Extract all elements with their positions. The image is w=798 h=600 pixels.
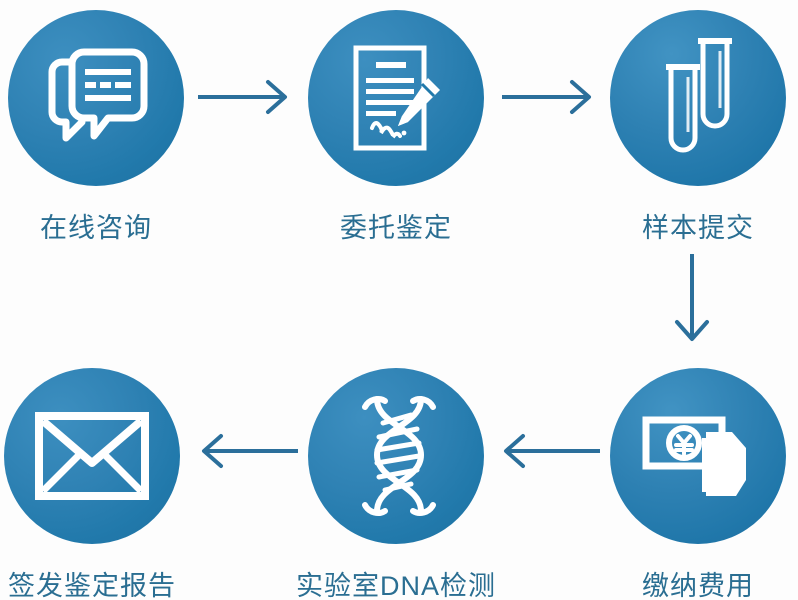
flow-step-online-consultation[interactable]: 在线咨询	[6, 10, 186, 245]
flow-step-sample-submission[interactable]: 样本提交	[608, 10, 788, 245]
step-icon-circle[interactable]	[610, 368, 786, 544]
document-signature-icon	[342, 42, 450, 154]
step-label: 在线咨询	[40, 206, 152, 245]
envelope-icon	[34, 411, 150, 501]
step-label: 委托鉴定	[340, 206, 452, 245]
connector-arrow-left-1	[492, 428, 602, 474]
step-icon-circle[interactable]	[8, 10, 184, 186]
step-icon-circle[interactable]	[308, 368, 484, 544]
step-label: 签发鉴定报告	[8, 564, 176, 600]
step-icon-circle[interactable]	[308, 10, 484, 186]
step-icon-circle[interactable]	[610, 10, 786, 186]
cash-hand-icon	[640, 404, 756, 508]
dna-helix-icon	[341, 393, 451, 519]
flow-step-issue-report[interactable]: 签发鉴定报告	[2, 368, 182, 600]
step-label: 样本提交	[642, 206, 754, 245]
connector-arrow-left-2	[190, 428, 300, 474]
connector-arrow-right-2	[500, 74, 600, 120]
step-icon-circle[interactable]	[4, 368, 180, 544]
flowchart-canvas: 在线咨询	[0, 0, 798, 600]
connector-arrow-down	[668, 252, 716, 350]
step-label: 实验室DNA检测	[296, 564, 496, 600]
flow-step-lab-dna-testing[interactable]: 实验室DNA检测	[306, 368, 486, 600]
test-tubes-icon	[650, 32, 746, 164]
connector-arrow-right-1	[196, 74, 296, 120]
flow-step-pay-fees[interactable]: 缴纳费用	[608, 368, 788, 600]
flow-step-commission-appraisal[interactable]: 委托鉴定	[306, 10, 486, 245]
chat-bubbles-icon	[40, 46, 152, 150]
step-label: 缴纳费用	[642, 564, 754, 600]
